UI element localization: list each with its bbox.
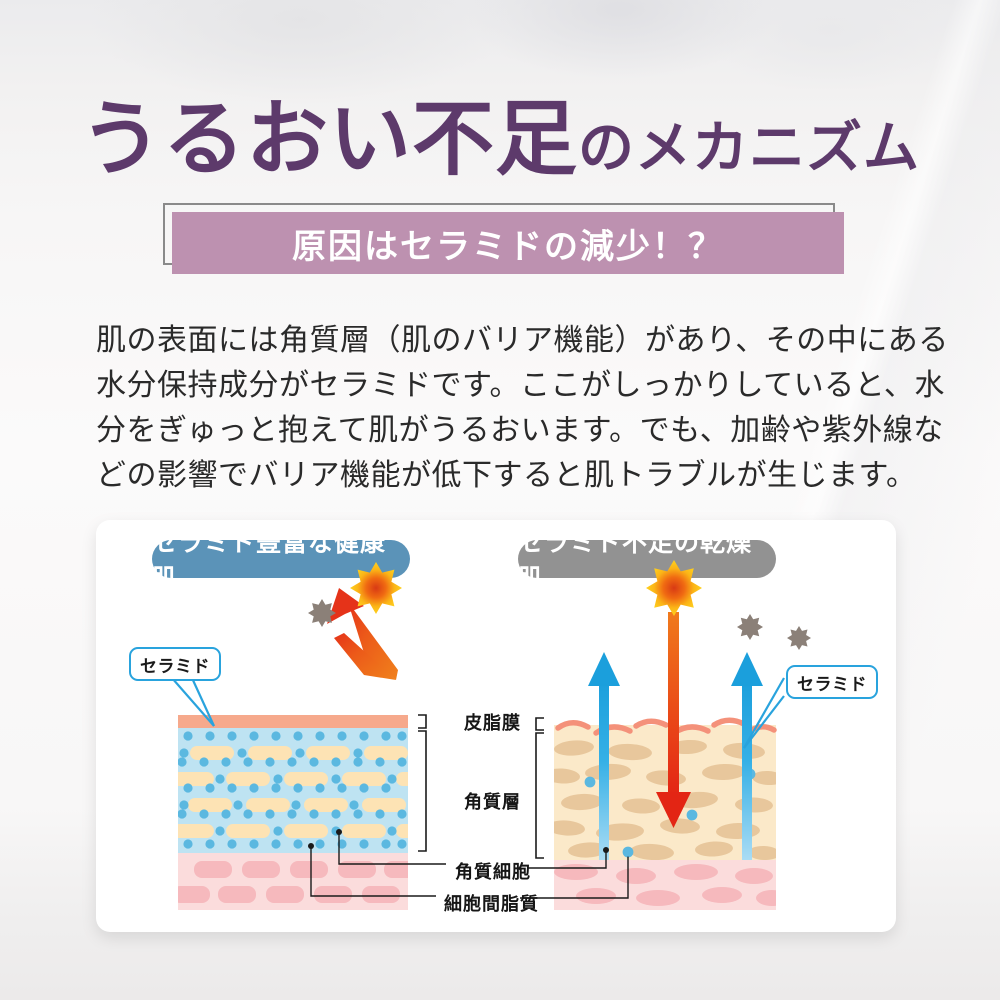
left-bracket-stratum-corneum: [418, 731, 426, 851]
dry-skin-cross-section: [520, 560, 811, 910]
sun-icon-left: [350, 562, 402, 614]
right-leader-dot-corneocyte: [603, 847, 609, 853]
callout-ceramide-right-text: セラミド: [797, 670, 867, 695]
left-bracket-sebum-film: [418, 715, 426, 728]
right-bracket-stratum-corneum: [536, 733, 544, 858]
label-intercellular-lipid: 細胞間脂質: [444, 890, 539, 916]
body-line-4: どの影響でバリア機能が低下すると肌トラブルが生じます。: [96, 453, 910, 498]
sun-icon-right: [646, 560, 702, 616]
right-bracket-sebum-film: [536, 718, 544, 730]
callout-ceramide-right: セラミド: [786, 665, 878, 699]
pollutant-particle-icon-right-1: [737, 614, 763, 640]
callout-ceramide-left-text: セラミド: [140, 652, 210, 677]
left-leader-dot-corneocyte: [336, 829, 342, 835]
body-line-2: 水分保持成分がセラミドです。ここがしっかりしていると、水: [96, 363, 910, 408]
ceramide-dot: [585, 777, 596, 788]
left-leader-dot-intercellular: [308, 843, 314, 849]
body-line-1: 肌の表面には角質層（肌のバリア機能）があり、その中にある: [96, 318, 910, 363]
body-line-3: 分をぎゅっと抱えて肌がうるおいます。でも、加齢や紫外線な: [96, 408, 910, 453]
label-stratum-corneum: 角質層: [464, 788, 521, 814]
subtitle-banner-text: 原因はセラミドの減少！？: [292, 219, 724, 268]
subtitle-banner-bar: 原因はセラミドの減少！？: [172, 212, 844, 274]
callout-ceramide-left: セラミド: [129, 647, 221, 681]
label-corneocyte: 角質細胞: [455, 858, 531, 884]
pollutant-particle-icon-right-2: [787, 626, 811, 650]
healthy-skin-cross-section: [170, 562, 446, 910]
body-paragraph: 肌の表面には角質層（肌のバリア機能）があり、その中にある 水分保持成分がセラミド…: [96, 318, 910, 498]
ceramide-dot: [687, 810, 698, 821]
page-title-main: うるおい不足: [80, 92, 578, 187]
page-title: うるおい不足のメカニズム: [0, 72, 1000, 191]
right-leader-dot-intercellular: [623, 847, 632, 856]
label-sebum-film: 皮脂膜: [464, 709, 521, 735]
pollutant-particle-icon-left: [308, 599, 336, 627]
page-title-suffix: のメカニズム: [578, 116, 920, 181]
diagram-card: セラミド豊富な健康肌 セラミド不足の乾燥肌: [96, 520, 896, 932]
uv-penetrating-arrow: [656, 612, 691, 828]
subtitle-banner: 原因はセラミドの減少！？: [163, 203, 835, 273]
